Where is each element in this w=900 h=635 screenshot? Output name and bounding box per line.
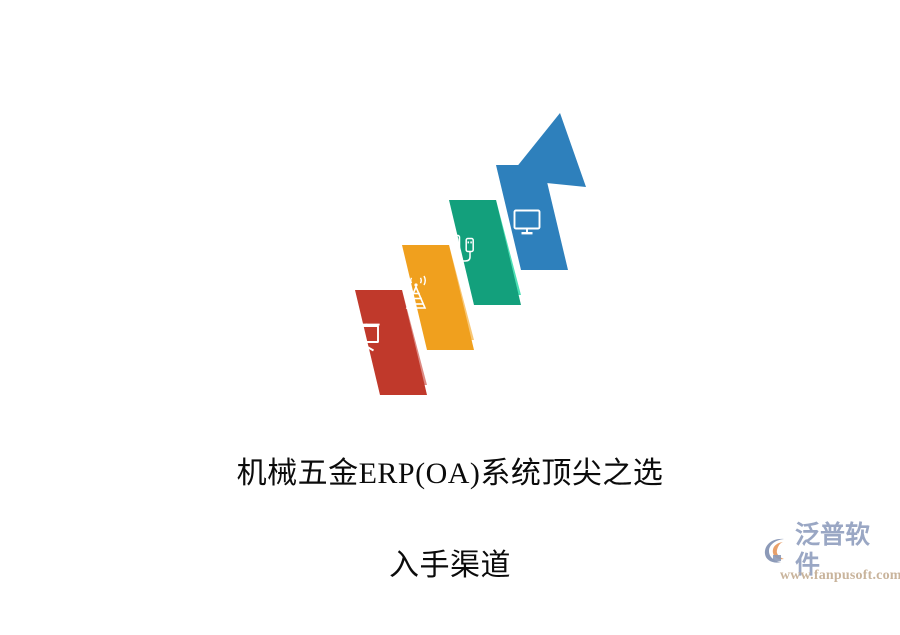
watermark: 泛普软件 www.fanpusoft.com xyxy=(762,531,890,587)
watermark-url-text: www.fanpusoft.com xyxy=(780,567,900,585)
segment-4-blue-arrow xyxy=(496,113,586,270)
headline-line-1: 机械五金ERP(OA)系统顶尖之选 xyxy=(0,451,900,497)
page-title: 机械五金ERP(OA)系统顶尖之选 入手渠道 xyxy=(0,405,900,635)
poster-canvas: 机械五金ERP(OA)系统顶尖之选 入手渠道 泛普软件 www.fanpusof… xyxy=(0,0,900,600)
arrow-head xyxy=(507,113,586,187)
segment-1-red xyxy=(353,290,427,395)
watermark-brand-row: 泛普软件 xyxy=(762,533,890,567)
fanpu-logo-icon xyxy=(762,535,792,565)
ascending-arrow-infographic xyxy=(330,95,590,410)
